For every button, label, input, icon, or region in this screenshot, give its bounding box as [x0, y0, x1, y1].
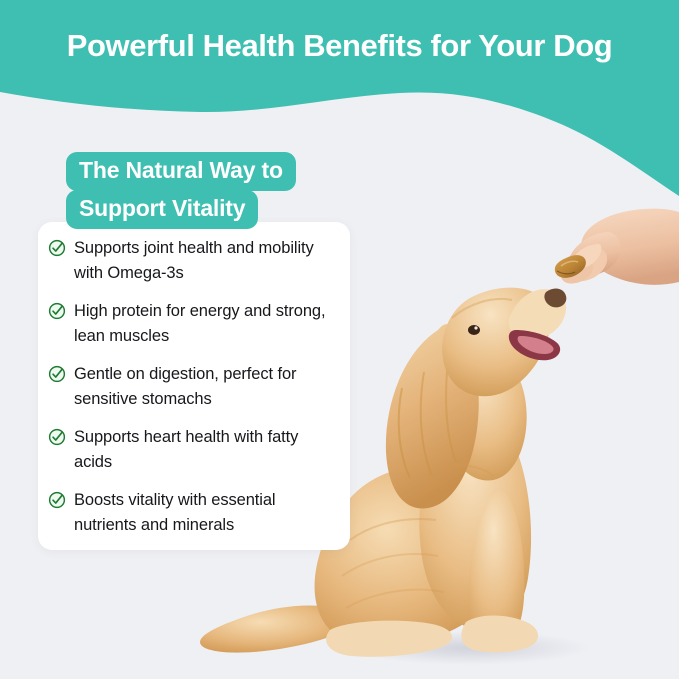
check-circle-icon [48, 302, 66, 320]
check-circle-icon [48, 365, 66, 383]
benefits-card: Supports joint health and mobility with … [38, 222, 350, 550]
subheading-line-2: Support Vitality [66, 190, 258, 229]
list-item-label: Boosts vitality with essential nutrients… [74, 488, 336, 538]
list-item-label: High protein for energy and strong, lean… [74, 299, 336, 349]
list-item: Gentle on digestion, perfect for sensiti… [48, 362, 342, 412]
list-item-label: Gentle on digestion, perfect for sensiti… [74, 362, 336, 412]
hand-holding-treat [555, 209, 679, 285]
promo-banner: Powerful Health Benefits for Your Dog [0, 0, 679, 679]
list-item: High protein for energy and strong, lean… [48, 299, 342, 349]
check-circle-icon [48, 239, 66, 257]
check-circle-icon [48, 428, 66, 446]
subheading-badge: The Natural Way to Support Vitality [66, 152, 346, 229]
check-circle-icon [48, 491, 66, 509]
benefits-list: Supports joint health and mobility with … [48, 236, 342, 538]
list-item-label: Supports heart health with fatty acids [74, 425, 336, 475]
list-item: Boosts vitality with essential nutrients… [48, 488, 342, 538]
page-title: Powerful Health Benefits for Your Dog [0, 24, 679, 68]
subheading-line-1: The Natural Way to [66, 152, 296, 191]
list-item-label: Supports joint health and mobility with … [74, 236, 336, 286]
list-item: Supports joint health and mobility with … [48, 236, 342, 286]
list-item: Supports heart health with fatty acids [48, 425, 342, 475]
